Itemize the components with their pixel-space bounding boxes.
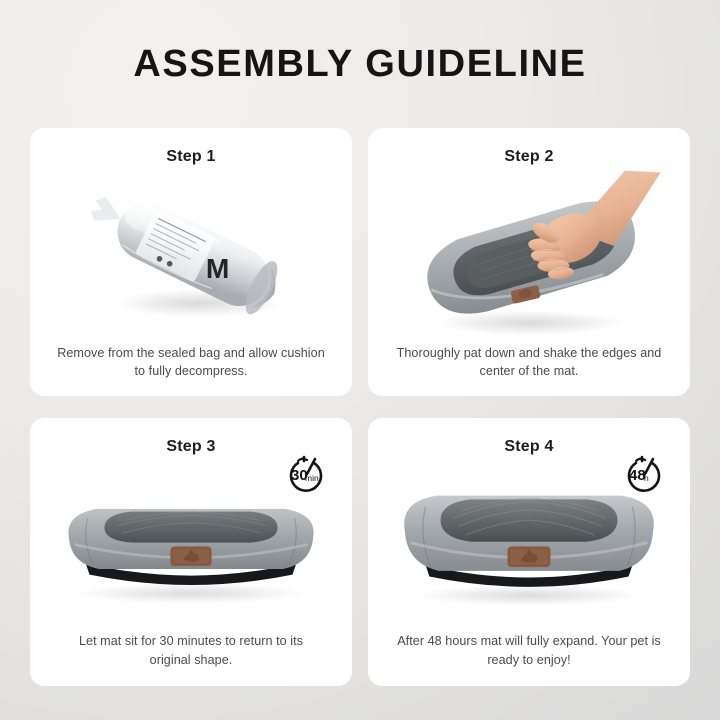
- bag-size-letter: M: [206, 252, 229, 284]
- step-3-illustration: [50, 455, 332, 632]
- step-card-3: Step 3 30 min: [30, 418, 352, 686]
- step-1-illustration: M: [50, 165, 332, 344]
- sealed-vacuum-bag-icon: M: [50, 165, 332, 344]
- hand-patting-pet-bed-icon: [388, 165, 670, 344]
- leather-paw-logo-patch: [170, 546, 211, 566]
- step-heading: Step 4: [504, 439, 553, 455]
- pet-bed-fully-expanded-icon: [388, 455, 670, 632]
- step-heading: Step 2: [504, 149, 553, 165]
- step-caption: Let mat sit for 30 minutes to return to …: [57, 632, 325, 670]
- step-heading: Step 3: [166, 439, 215, 455]
- step-card-1: Step 1: [30, 128, 352, 396]
- step-caption: After 48 hours mat will fully expand. Yo…: [395, 632, 663, 670]
- steps-grid: Step 1: [30, 128, 690, 686]
- leather-paw-logo-patch: [507, 546, 550, 567]
- pet-bed-partially-expanded-icon: [50, 455, 332, 632]
- step-4-illustration: [388, 455, 670, 632]
- step-card-2: Step 2: [368, 128, 690, 396]
- step-2-illustration: [388, 165, 670, 344]
- step-caption: Remove from the sealed bag and allow cus…: [57, 344, 325, 382]
- step-caption: Thoroughly pat down and shake the edges …: [395, 344, 663, 382]
- step-card-4: Step 4 48 h: [368, 418, 690, 686]
- step-heading: Step 1: [166, 149, 215, 165]
- page-title: ASSEMBLY GUIDELINE: [0, 0, 720, 86]
